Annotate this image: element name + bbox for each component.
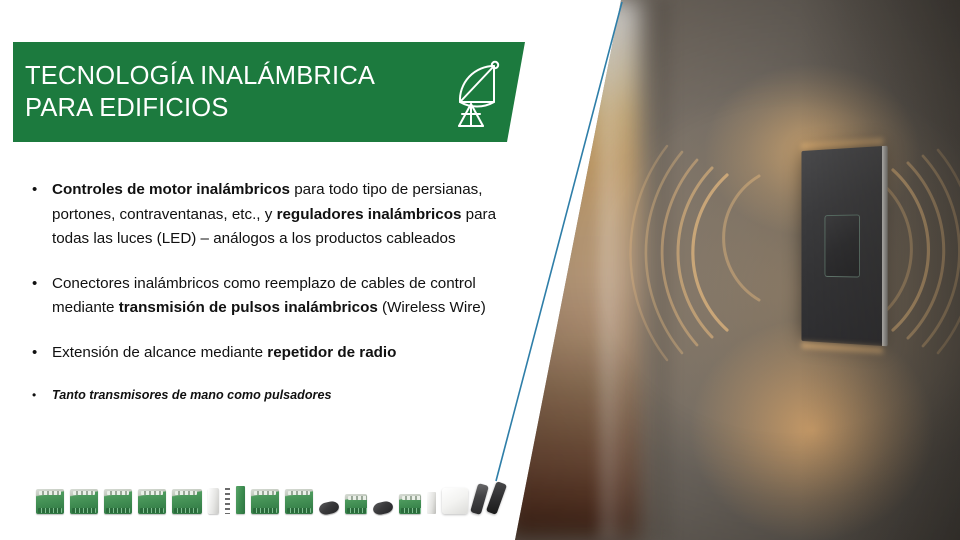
bullet-text: Tanto transmisores de mano como pulsador… (52, 385, 500, 405)
page-title: TECNOLOGÍA INALÁMBRICA PARA EDIFICIOS (13, 60, 375, 124)
bullet-item: •Extensión de alcance mediante repetidor… (32, 341, 500, 366)
product-thumb (399, 494, 421, 514)
clip-module (427, 492, 436, 514)
pcb-module-3 (104, 489, 132, 514)
product-thumb (319, 502, 339, 514)
product-thumb (208, 488, 219, 514)
title-banner: TECNOLOGÍA INALÁMBRICA PARA EDIFICIOS (13, 42, 525, 142)
product-thumb (236, 486, 245, 514)
product-thumb (225, 488, 230, 514)
product-thumb (104, 489, 132, 514)
slide-root: TECNOLOGÍA INALÁMBRICA PARA EDIFICIOS •C… (0, 0, 960, 540)
pcb-module-1 (36, 489, 64, 514)
bullet-text: Extensión de alcance mediante repetidor … (52, 341, 500, 366)
pcb-module-7 (285, 489, 313, 514)
hand-transmitter-1 (318, 500, 340, 516)
pcb-module-2 (70, 489, 98, 514)
pcb-module-6 (251, 489, 279, 514)
product-thumb (36, 489, 64, 514)
satellite-dish-icon (437, 56, 513, 132)
product-thumb (491, 482, 502, 514)
product-thumb (251, 489, 279, 514)
product-thumb (285, 489, 313, 514)
bullet-segment: Extensión de alcance mediante (52, 344, 267, 361)
pcb-module-4 (138, 489, 166, 514)
bullet-item: •Tanto transmisores de mano como pulsado… (32, 385, 500, 405)
product-thumb (427, 492, 436, 514)
sensor-module (208, 488, 219, 514)
wall-switch (442, 488, 468, 514)
bullet-marker-icon: • (32, 272, 52, 321)
product-thumb (474, 484, 485, 514)
bullet-marker-icon: • (32, 385, 52, 405)
bullet-emphasis: repetidor de radio (267, 344, 396, 361)
bullet-list: •Controles de motor inalámbricos para to… (32, 178, 500, 425)
vertical-board (236, 486, 245, 514)
bullet-segment: Tanto transmisores de mano como pulsador… (52, 388, 331, 402)
bullet-text: Conectores inalámbricos como reemplazo d… (52, 272, 500, 321)
hand-transmitter-2 (372, 500, 394, 516)
bullet-item: •Conectores inalámbricos como reemplazo … (32, 272, 500, 321)
bullet-text: Controles de motor inalámbricos para tod… (52, 178, 500, 252)
pcb-module-8 (345, 494, 367, 514)
bullet-emphasis: reguladores inalámbricos (277, 206, 462, 223)
pcb-module-5 (172, 489, 202, 514)
bullet-segment: (Wireless Wire) (378, 299, 486, 316)
bullet-emphasis: transmisión de pulsos inalámbricos (119, 299, 378, 316)
product-thumb (172, 489, 202, 514)
product-thumb (442, 488, 468, 514)
bullet-marker-icon: • (32, 178, 52, 252)
product-thumb (345, 494, 367, 514)
product-thumb (70, 489, 98, 514)
product-image-strip (36, 478, 476, 514)
product-thumb (373, 502, 393, 514)
pcb-module-9 (399, 494, 421, 514)
bullet-emphasis: Controles de motor inalámbricos (52, 181, 290, 198)
pin-header (225, 488, 230, 514)
bullet-marker-icon: • (32, 341, 52, 366)
product-thumb (138, 489, 166, 514)
bullet-item: •Controles de motor inalámbricos para to… (32, 178, 500, 252)
